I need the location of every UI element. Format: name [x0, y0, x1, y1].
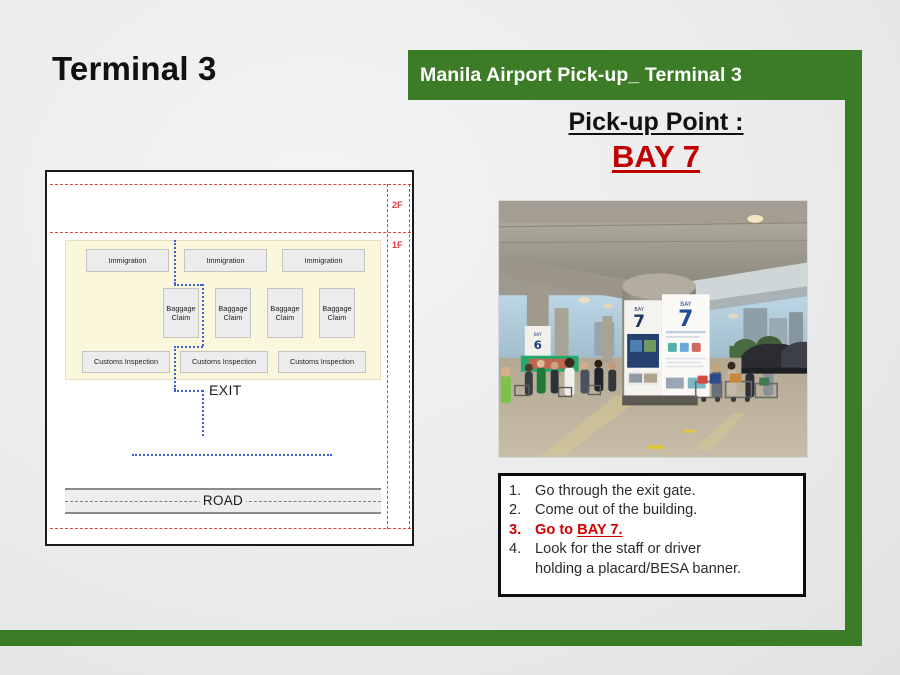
step-number: 4.: [509, 540, 535, 559]
terminal-floor-plan: 2F 1F Immigration Immigration Immigratio…: [45, 170, 414, 546]
road-band: ROAD: [65, 488, 381, 514]
slide-root: Terminal 3 Manila Airport Pick-up_ Termi…: [0, 0, 900, 675]
svg-text:7: 7: [678, 307, 693, 332]
step-text-continuation: holding a placard/BESA banner.: [509, 560, 797, 579]
walking-route-segment: [202, 284, 204, 346]
pickup-area-photo: BAY 6 BAY 7 BAY 7: [498, 200, 808, 458]
immigration-counter: Immigration: [86, 249, 169, 272]
svg-text:6: 6: [534, 338, 542, 352]
road-label: ROAD: [65, 493, 381, 508]
pickup-bay-value: BAY 7: [470, 139, 842, 175]
step-text: Go to BAY 7.: [535, 521, 797, 540]
step-text: Go through the exit gate.: [535, 482, 797, 501]
instruction-step-highlighted: 3. Go to BAY 7.: [509, 521, 797, 540]
walking-route-segment: [174, 240, 176, 284]
step-text-emphasis: BAY 7.: [577, 522, 622, 538]
svg-text:BAY: BAY: [534, 332, 542, 337]
walking-route-segment: [174, 284, 202, 286]
instruction-step: 1. Go through the exit gate.: [509, 482, 797, 501]
frame-bottom-bar: [0, 630, 862, 646]
floor-label-2f: 2F: [392, 200, 403, 210]
floor-divider-line-bottom: [50, 528, 411, 529]
pickup-waiting-line: [132, 454, 332, 456]
instruction-step: 4. Look for the staff or driver: [509, 540, 797, 559]
step-number: 1.: [509, 482, 535, 501]
baggage-claim-belt: BaggageClaim: [319, 288, 355, 338]
pickup-point-label: Pick-up Point :: [470, 108, 842, 137]
floor-divider-line-mid: [50, 232, 411, 233]
walking-route-segment: [202, 390, 204, 436]
immigration-counter: Immigration: [282, 249, 365, 272]
step-text: Look for the staff or driver: [535, 540, 797, 559]
baggage-claim-belt: BaggageClaim: [163, 288, 199, 338]
arrivals-hall-area: Immigration Immigration Immigration Bagg…: [65, 240, 381, 380]
pickup-point-heading: Pick-up Point : BAY 7: [470, 108, 842, 175]
photo-illustration: BAY 6 BAY 7 BAY 7: [499, 201, 807, 457]
header-title: Manila Airport Pick-up_ Terminal 3: [408, 64, 742, 87]
floor-divider-line-vertical-outer: [409, 184, 410, 529]
step-text: Come out of the building.: [535, 501, 797, 520]
instructions-box: 1. Go through the exit gate. 2. Come out…: [498, 473, 806, 597]
step-number: 3.: [509, 521, 535, 540]
page-title: Terminal 3: [52, 50, 217, 88]
exit-label: EXIT: [209, 382, 242, 398]
step-number: 2.: [509, 501, 535, 520]
customs-inspection-counter: Customs Inspection: [82, 351, 170, 373]
customs-inspection-counter: Customs Inspection: [278, 351, 366, 373]
customs-inspection-counter: Customs Inspection: [180, 351, 268, 373]
walking-route-segment: [174, 390, 203, 392]
walking-route-segment: [174, 346, 203, 348]
immigration-counter: Immigration: [184, 249, 267, 272]
svg-text:7: 7: [633, 311, 645, 331]
floor-label-1f: 1F: [392, 240, 403, 250]
instruction-step: 2. Come out of the building.: [509, 501, 797, 520]
baggage-claim-belt: BaggageClaim: [215, 288, 251, 338]
floor-divider-line-top: [50, 184, 411, 185]
frame-right-strip: [845, 100, 862, 646]
baggage-claim-belt: BaggageClaim: [267, 288, 303, 338]
header-bar: Manila Airport Pick-up_ Terminal 3: [408, 50, 862, 100]
step-text-lead: Go to: [535, 522, 577, 538]
floor-divider-line-vertical-inner: [387, 184, 388, 529]
walking-route-segment: [174, 346, 176, 390]
